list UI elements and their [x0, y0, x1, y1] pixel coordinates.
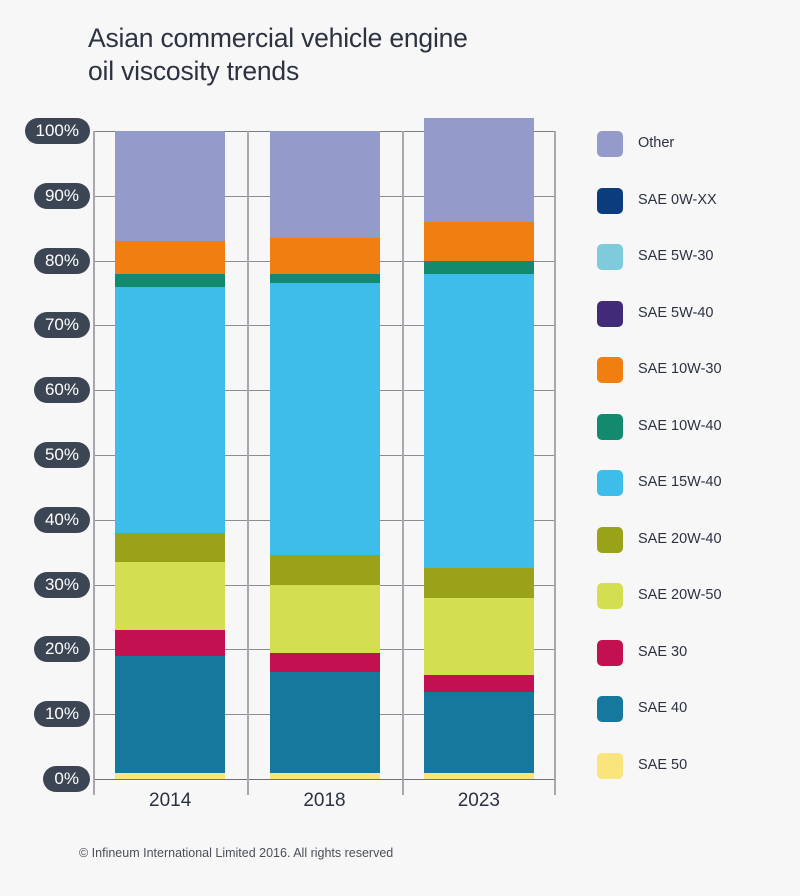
legend-swatch-icon — [597, 414, 623, 440]
legend-item-sae-5w-40[interactable]: SAE 5W-40 — [597, 301, 797, 358]
legend-label: SAE 0W-XX — [638, 192, 717, 208]
legend-item-sae-10w-40[interactable]: SAE 10W-40 — [597, 414, 797, 471]
legend-label: SAE 20W-40 — [638, 531, 722, 547]
legend-swatch-icon — [597, 131, 623, 157]
legend-label: SAE 10W-40 — [638, 418, 722, 434]
legend-label: SAE 5W-30 — [638, 248, 714, 264]
y-axis-tick-10pct: 10% — [34, 701, 90, 727]
legend-swatch-icon — [597, 753, 623, 779]
legend-item-sae-0w-xx[interactable]: SAE 0W-XX — [597, 188, 797, 245]
y-axis-tick-90pct: 90% — [34, 183, 90, 209]
chart-title: Asian commercial vehicle engine oil visc… — [88, 22, 608, 88]
bar-segment-sae-30[interactable] — [424, 675, 534, 691]
legend-item-sae-40[interactable]: SAE 40 — [597, 696, 797, 753]
bar-segment-sae-20w-50[interactable] — [115, 562, 225, 630]
y-axis-tick-20pct: 20% — [34, 636, 90, 662]
chart-container: Asian commercial vehicle engine oil visc… — [0, 0, 800, 896]
legend-item-sae-5w-30[interactable]: SAE 5W-30 — [597, 244, 797, 301]
y-axis-tick-100pct: 100% — [25, 118, 90, 144]
x-axis-label-2018: 2018 — [243, 790, 406, 812]
y-axis-tick-60pct: 60% — [34, 377, 90, 403]
legend-item-sae-10w-30[interactable]: SAE 10W-30 — [597, 357, 797, 414]
y-axis-tick-40pct: 40% — [34, 507, 90, 533]
y-axis-tick-80pct: 80% — [34, 248, 90, 274]
chart-legend: OtherSAE 0W-XXSAE 5W-30SAE 5W-40SAE 10W-… — [597, 131, 797, 809]
bar-segment-sae-20w-50[interactable] — [270, 585, 380, 653]
bar-segment-sae-50[interactable] — [424, 773, 534, 779]
axis-separator — [554, 131, 556, 795]
bar-segment-sae-30[interactable] — [115, 630, 225, 656]
bar-segment-sae-10w-40[interactable] — [115, 274, 225, 287]
y-axis-tick-50pct: 50% — [34, 442, 90, 468]
legend-label: SAE 5W-40 — [638, 305, 714, 321]
bar-2014[interactable] — [115, 131, 225, 779]
legend-label: SAE 50 — [638, 757, 687, 773]
legend-item-sae-20w-40[interactable]: SAE 20W-40 — [597, 527, 797, 584]
bar-segment-sae-10w-30[interactable] — [424, 222, 534, 261]
legend-swatch-icon — [597, 470, 623, 496]
bar-segment-sae-50[interactable] — [270, 773, 380, 779]
bar-2023[interactable] — [424, 131, 534, 779]
bar-segment-sae-10w-30[interactable] — [115, 241, 225, 273]
legend-label: SAE 40 — [638, 700, 687, 716]
x-axis-label-2014: 2014 — [89, 790, 252, 812]
axis-separator — [402, 131, 404, 795]
gridline — [93, 779, 556, 780]
legend-label: SAE 10W-30 — [638, 361, 722, 377]
legend-swatch-icon — [597, 527, 623, 553]
bar-segment-sae-30[interactable] — [270, 653, 380, 672]
bar-segment-other[interactable] — [270, 131, 380, 238]
bar-segment-other[interactable] — [424, 118, 534, 222]
x-axis-label-2023: 2023 — [397, 790, 560, 812]
legend-swatch-icon — [597, 583, 623, 609]
legend-item-sae-15w-40[interactable]: SAE 15W-40 — [597, 470, 797, 527]
bar-2018[interactable] — [270, 131, 380, 779]
bar-segment-sae-40[interactable] — [424, 692, 534, 773]
axis-separator — [93, 131, 95, 795]
legend-label: SAE 20W-50 — [638, 587, 722, 603]
legend-swatch-icon — [597, 696, 623, 722]
legend-swatch-icon — [597, 244, 623, 270]
bar-segment-sae-20w-40[interactable] — [424, 568, 534, 597]
bar-segment-sae-40[interactable] — [270, 672, 380, 772]
y-axis: 100%90%80%70%60%50%40%30%20%10%0% — [0, 131, 90, 779]
bar-segment-sae-15w-40[interactable] — [424, 274, 534, 569]
bar-segment-other[interactable] — [115, 131, 225, 241]
y-axis-tick-0pct: 0% — [43, 766, 90, 792]
copyright-footer: © Infineum International Limited 2016. A… — [79, 846, 393, 860]
legend-swatch-icon — [597, 188, 623, 214]
y-axis-tick-70pct: 70% — [34, 312, 90, 338]
bar-segment-sae-40[interactable] — [115, 656, 225, 773]
bar-segment-sae-20w-50[interactable] — [424, 598, 534, 676]
bar-segment-sae-20w-40[interactable] — [115, 533, 225, 562]
legend-swatch-icon — [597, 301, 623, 327]
bar-segment-sae-10w-40[interactable] — [270, 274, 380, 284]
legend-label: Other — [638, 135, 674, 151]
bar-segment-sae-15w-40[interactable] — [115, 287, 225, 533]
bar-segment-sae-50[interactable] — [115, 773, 225, 779]
y-axis-tick-30pct: 30% — [34, 572, 90, 598]
bar-segment-sae-10w-30[interactable] — [270, 238, 380, 274]
legend-item-sae-30[interactable]: SAE 30 — [597, 640, 797, 697]
legend-label: SAE 15W-40 — [638, 474, 722, 490]
legend-swatch-icon — [597, 357, 623, 383]
legend-item-sae-50[interactable]: SAE 50 — [597, 753, 797, 810]
bar-segment-sae-20w-40[interactable] — [270, 555, 380, 584]
bar-segment-sae-10w-40[interactable] — [424, 261, 534, 274]
legend-swatch-icon — [597, 640, 623, 666]
legend-label: SAE 30 — [638, 644, 687, 660]
axis-separator — [247, 131, 249, 795]
legend-item-sae-20w-50[interactable]: SAE 20W-50 — [597, 583, 797, 640]
plot-area — [93, 131, 556, 779]
legend-item-other[interactable]: Other — [597, 131, 797, 188]
bar-segment-sae-15w-40[interactable] — [270, 283, 380, 555]
